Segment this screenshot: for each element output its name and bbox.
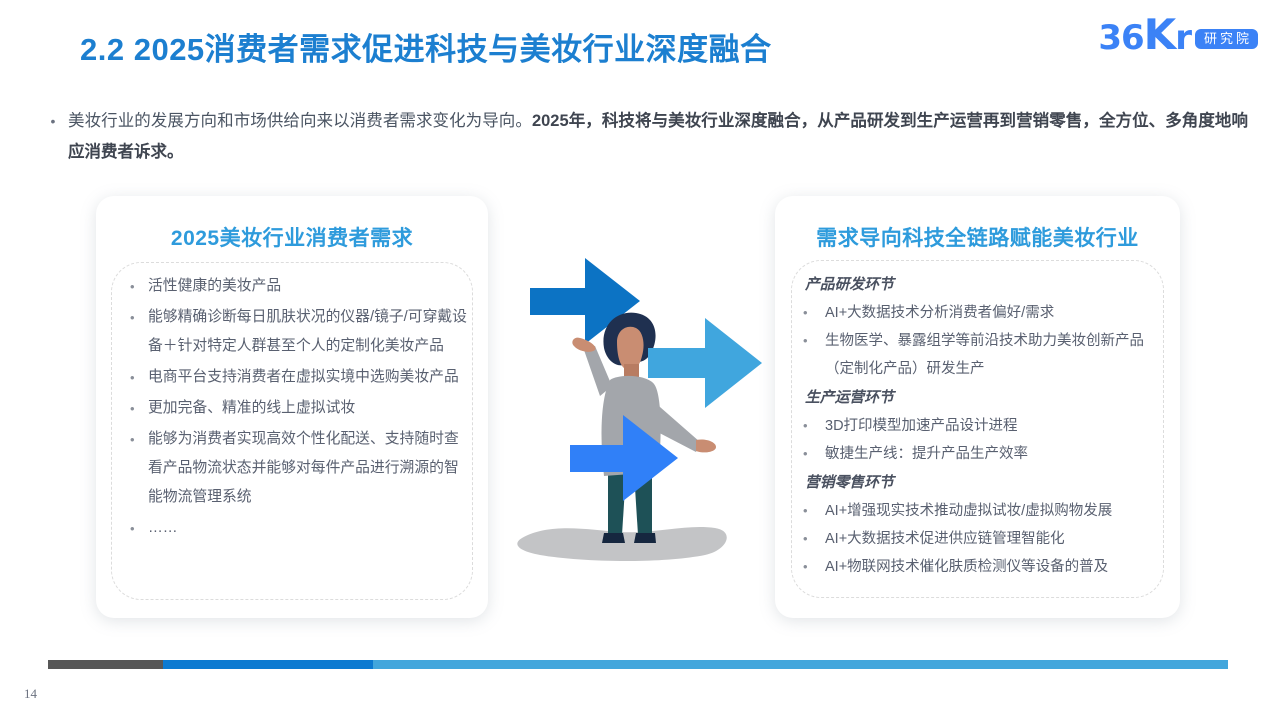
logo-k-text: K (1144, 10, 1176, 59)
person-shoe-right (634, 533, 656, 543)
intro-text: 美妆行业的发展方向和市场供给向来以消费者需求变化为导向。2025年，科技将与美妆… (68, 106, 1248, 168)
list-item: •AI+大数据技术分析消费者偏好/需求 (803, 299, 1166, 327)
brand-logo: 36Kr 研究院 (1098, 14, 1258, 56)
left-card-bullet-list: •活性健康的美妆产品•能够精确诊断每日肌肤状况的仪器/镜子/可穿戴设备＋针对特定… (130, 272, 470, 545)
section-heading: 产品研发环节 (805, 272, 1166, 298)
bullet-dot-icon: • (803, 525, 825, 553)
bullet-text: AI+大数据技术促进供应链管理智能化 (825, 525, 1065, 553)
section-heading: 生产运营环节 (805, 385, 1166, 411)
list-item: •能够为消费者实现高效个性化配送、支持随时查看产品物流状态并能够对每件产品进行溯… (130, 425, 470, 512)
bullet-dot-icon: • (130, 425, 148, 454)
intro-bullet-icon: • (38, 106, 68, 136)
list-item: •生物医学、暴露组学等前沿技术助力美妆创新产品（定制化产品）研发生产 (803, 327, 1166, 383)
bullet-text: 能够精确诊断每日肌肤状况的仪器/镜子/可穿戴设备＋针对特定人群甚至个人的定制化美… (148, 303, 470, 361)
logo-36-text: 36 (1098, 18, 1143, 58)
person-face (617, 327, 644, 370)
page-title: 2.2 2025消费者需求促进科技与美妆行业深度融合 (80, 24, 772, 69)
list-item: •AI+大数据技术促进供应链管理智能化 (803, 525, 1166, 553)
intro-normal-text: 美妆行业的发展方向和市场供给向来以消费者需求变化为导向。 (68, 112, 532, 130)
bullet-dot-icon: • (130, 514, 148, 543)
bullet-dot-icon: • (130, 272, 148, 301)
bullet-text: AI+增强现实技术推动虚拟试妆/虚拟购物发展 (825, 497, 1112, 525)
left-card-title: 2025美妆行业消费者需求 (96, 196, 488, 252)
section-heading: 营销零售环节 (805, 470, 1166, 496)
bullet-dot-icon: • (130, 363, 148, 392)
list-item: •更加完备、精准的线上虚拟试妆 (130, 394, 470, 423)
person-hand-raised (572, 338, 595, 352)
bullet-text: 能够为消费者实现高效个性化配送、支持随时查看产品物流状态并能够对每件产品进行溯源… (148, 425, 470, 512)
bullet-dot-icon: • (130, 394, 148, 423)
logo-wordmark: 36Kr (1098, 14, 1191, 56)
footer-color-bar (48, 660, 1228, 669)
list-item: •电商平台支持消费者在虚拟实境中选购美妆产品 (130, 363, 470, 392)
person-hand-extended (696, 439, 716, 452)
person-figure (572, 313, 716, 543)
arrow-middle-icon (648, 318, 762, 408)
bullet-dot-icon: • (803, 299, 825, 327)
footer-bar-segment-gray (48, 660, 163, 669)
bullet-text: 电商平台支持消费者在虚拟实境中选购美妆产品 (148, 363, 459, 392)
right-card-title: 需求导向科技全链路赋能美妆行业 (775, 196, 1180, 252)
footer-bar-segment-blue (163, 660, 373, 669)
list-item: •3D打印模型加速产品设计进程 (803, 412, 1166, 440)
bullet-dot-icon: • (803, 327, 825, 355)
bullet-dot-icon: • (130, 303, 148, 332)
bullet-dot-icon: • (803, 440, 825, 468)
slide-canvas: 2.2 2025消费者需求促进科技与美妆行业深度融合 36Kr 研究院 • 美妆… (0, 0, 1280, 720)
bullet-text: …… (148, 514, 178, 543)
bullet-text: 3D打印模型加速产品设计进程 (825, 412, 1018, 440)
person-shoe-left (602, 533, 625, 543)
intro-paragraph: • 美妆行业的发展方向和市场供给向来以消费者需求变化为导向。2025年，科技将与… (38, 106, 1248, 168)
bullet-text: 生物医学、暴露组学等前沿技术助力美妆创新产品（定制化产品）研发生产 (825, 327, 1166, 383)
bullet-text: AI+大数据技术分析消费者偏好/需求 (825, 299, 1054, 327)
bullet-dot-icon: • (803, 553, 825, 581)
list-item: •活性健康的美妆产品 (130, 272, 470, 301)
list-item: •AI+增强现实技术推动虚拟试妆/虚拟购物发展 (803, 497, 1166, 525)
right-card-section-list: 产品研发环节•AI+大数据技术分析消费者偏好/需求•生物医学、暴露组学等前沿技术… (803, 270, 1166, 581)
logo-r-text: r (1175, 18, 1191, 58)
bullet-text: 更加完备、精准的线上虚拟试妆 (148, 394, 355, 423)
bullet-text: 活性健康的美妆产品 (148, 272, 281, 301)
consumer-demand-card: 2025美妆行业消费者需求 •活性健康的美妆产品•能够精确诊断每日肌肤状况的仪器… (96, 196, 488, 618)
tech-enablement-card: 需求导向科技全链路赋能美妆行业 产品研发环节•AI+大数据技术分析消费者偏好/需… (775, 196, 1180, 618)
bullet-dot-icon: • (803, 497, 825, 525)
footer-bar-segment-lightblue (373, 660, 1228, 669)
bullet-text: 敏捷生产线：提升产品生产效率 (825, 440, 1028, 468)
logo-badge: 研究院 (1195, 29, 1258, 50)
list-item: •能够精确诊断每日肌肤状况的仪器/镜子/可穿戴设备＋针对特定人群甚至个人的定制化… (130, 303, 470, 361)
arrows-and-person-illustration (500, 250, 780, 580)
list-item: •敏捷生产线：提升产品生产效率 (803, 440, 1166, 468)
list-item: •…… (130, 514, 470, 543)
list-item: •AI+物联网技术催化肤质检测仪等设备的普及 (803, 553, 1166, 581)
bullet-dot-icon: • (803, 412, 825, 440)
page-number: 14 (24, 686, 37, 702)
bullet-text: AI+物联网技术催化肤质检测仪等设备的普及 (825, 553, 1108, 581)
